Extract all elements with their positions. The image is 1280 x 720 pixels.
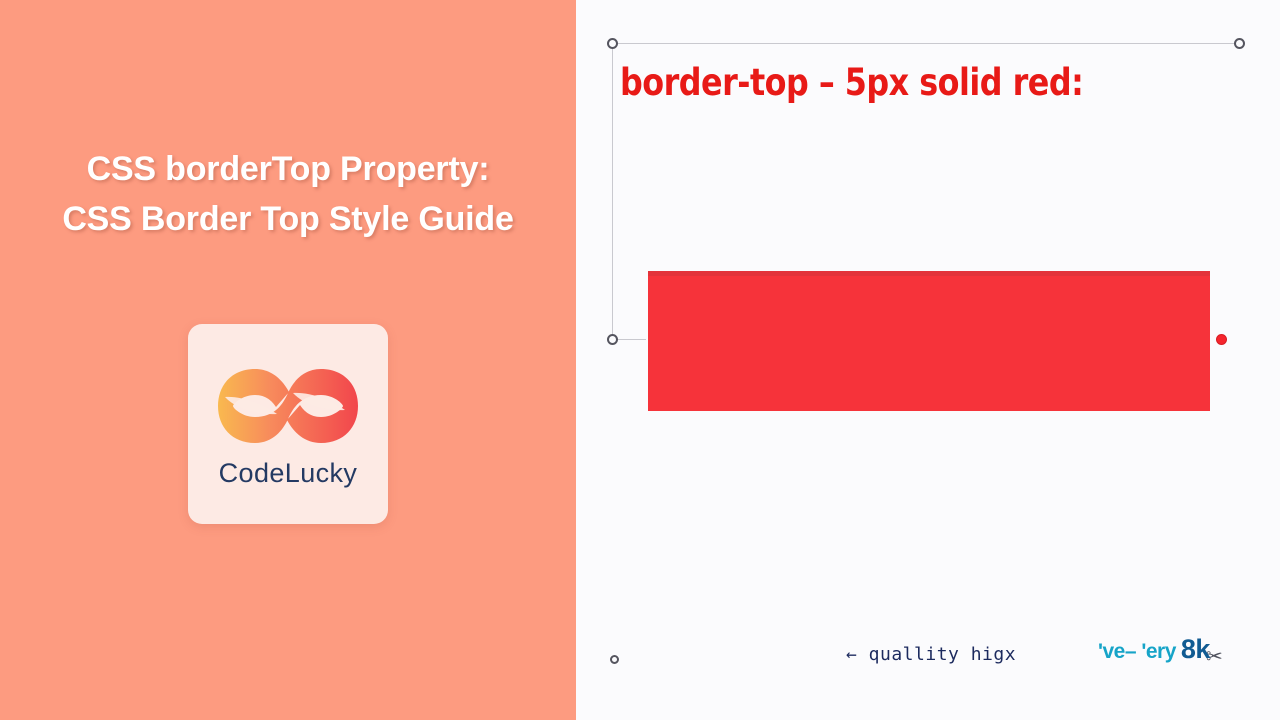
selection-guide-left xyxy=(612,43,613,339)
selection-handle-top-left[interactable] xyxy=(607,38,618,49)
border-top-demo-box xyxy=(648,271,1210,411)
page-title: CSS borderTop Property: CSS Border Top S… xyxy=(53,144,523,244)
title-panel: CSS borderTop Property: CSS Border Top S… xyxy=(0,0,576,720)
demo-heading: border-top – 5px solid red: xyxy=(620,60,1153,106)
footer-caption-left: ← quallity higx xyxy=(846,644,1016,665)
footer-caption-navy: 8k xyxy=(1181,634,1210,664)
footer-caption-teal: 've– 'ery xyxy=(1098,640,1176,663)
demo-panel: border-top – 5px solid red: ✂ ← quallity… xyxy=(576,0,1280,720)
footer-caption-right: 've– 'ery8k xyxy=(1098,634,1210,665)
infinity-leaf-logo-icon xyxy=(215,360,361,452)
accent-anchor-dot[interactable] xyxy=(1216,334,1227,345)
selection-handle-middle-left[interactable] xyxy=(607,334,618,345)
selection-handle-bottom-left[interactable] xyxy=(610,655,619,664)
brand-logo-card: CodeLucky xyxy=(188,324,388,524)
brand-wordmark: CodeLucky xyxy=(219,458,358,489)
selection-guide-top xyxy=(612,43,1240,44)
slide-canvas: CSS borderTop Property: CSS Border Top S… xyxy=(0,0,1280,720)
selection-handle-top-right[interactable] xyxy=(1234,38,1245,49)
